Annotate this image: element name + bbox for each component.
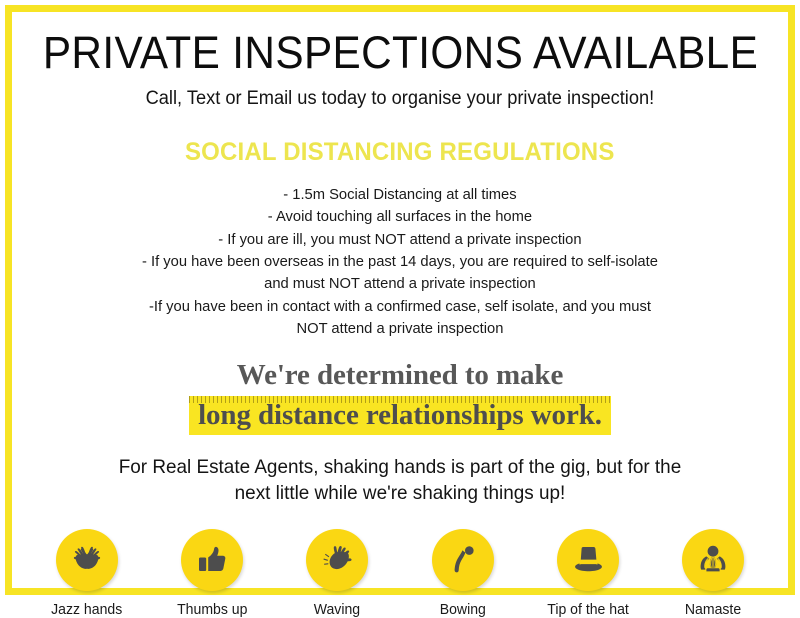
icon-badge bbox=[306, 529, 368, 591]
icon-badge bbox=[56, 529, 118, 591]
page-title: PRIVATE INSPECTIONS AVAILABLE bbox=[42, 29, 757, 76]
rule-line: - If you are ill, you must NOT attend a … bbox=[142, 229, 658, 251]
icon-badge bbox=[181, 529, 243, 591]
icon-badge bbox=[432, 529, 494, 591]
pitch-line-two: long distance relationships work. bbox=[198, 399, 602, 431]
rule-line: NOT attend a private inspection bbox=[142, 318, 658, 340]
pitch-line-one: We're determined to make bbox=[189, 358, 611, 392]
social-distancing-rules-list: - 1.5m Social Distancing at all times - … bbox=[134, 184, 666, 340]
section-title-social-distancing: SOCIAL DISTANCING REGULATIONS bbox=[185, 138, 615, 167]
icon-badge bbox=[557, 529, 619, 591]
rule-line: and must NOT attend a private inspection bbox=[142, 273, 658, 295]
rule-line: - 1.5m Social Distancing at all times bbox=[142, 184, 658, 206]
subheadline: Call, Text or Email us today to organise… bbox=[146, 88, 655, 111]
jazz-hands-icon bbox=[67, 540, 107, 580]
greeting-item-waving: Waving bbox=[291, 529, 384, 618]
rule-line: - Avoid touching all surfaces in the hom… bbox=[142, 206, 658, 228]
greeting-item-bowing: Bowing bbox=[416, 529, 509, 618]
rule-line: -If you have been in contact with a conf… bbox=[142, 296, 658, 318]
namaste-icon bbox=[693, 540, 733, 580]
greeting-label: Jazz hands bbox=[51, 602, 122, 618]
greeting-item-tip-of-the-hat: Tip of the hat bbox=[541, 529, 634, 618]
greeting-label: Thumbs up bbox=[177, 602, 247, 618]
top-hat-icon bbox=[568, 540, 608, 580]
pitch-highlight-band: long distance relationships work. bbox=[189, 396, 611, 435]
closing-message: For Real Estate Agents, shaking hands is… bbox=[110, 454, 690, 507]
pitch-statement: We're determined to make long distance r… bbox=[189, 358, 611, 434]
greeting-label: Tip of the hat bbox=[547, 602, 629, 618]
greeting-item-namaste: Namaste bbox=[667, 529, 760, 618]
waving-hand-icon bbox=[317, 540, 357, 580]
greeting-alternatives-row: Jazz hands Thumbs up bbox=[12, 529, 788, 618]
icon-badge bbox=[682, 529, 744, 591]
poster-frame: PRIVATE INSPECTIONS AVAILABLE Call, Text… bbox=[5, 5, 795, 595]
closing-line: next little while we're shaking things u… bbox=[119, 480, 682, 506]
closing-line: For Real Estate Agents, shaking hands is… bbox=[119, 454, 682, 480]
bowing-person-icon bbox=[443, 540, 483, 580]
greeting-item-thumbs-up: Thumbs up bbox=[165, 529, 258, 618]
poster-canvas: PRIVATE INSPECTIONS AVAILABLE Call, Text… bbox=[0, 0, 800, 600]
greeting-label: Waving bbox=[314, 602, 360, 618]
greeting-label: Namaste bbox=[685, 602, 741, 618]
greeting-label: Bowing bbox=[440, 602, 486, 618]
rule-line: - If you have been overseas in the past … bbox=[142, 251, 658, 273]
greeting-item-jazz-hands: Jazz hands bbox=[40, 529, 133, 618]
thumbs-up-icon bbox=[192, 540, 232, 580]
